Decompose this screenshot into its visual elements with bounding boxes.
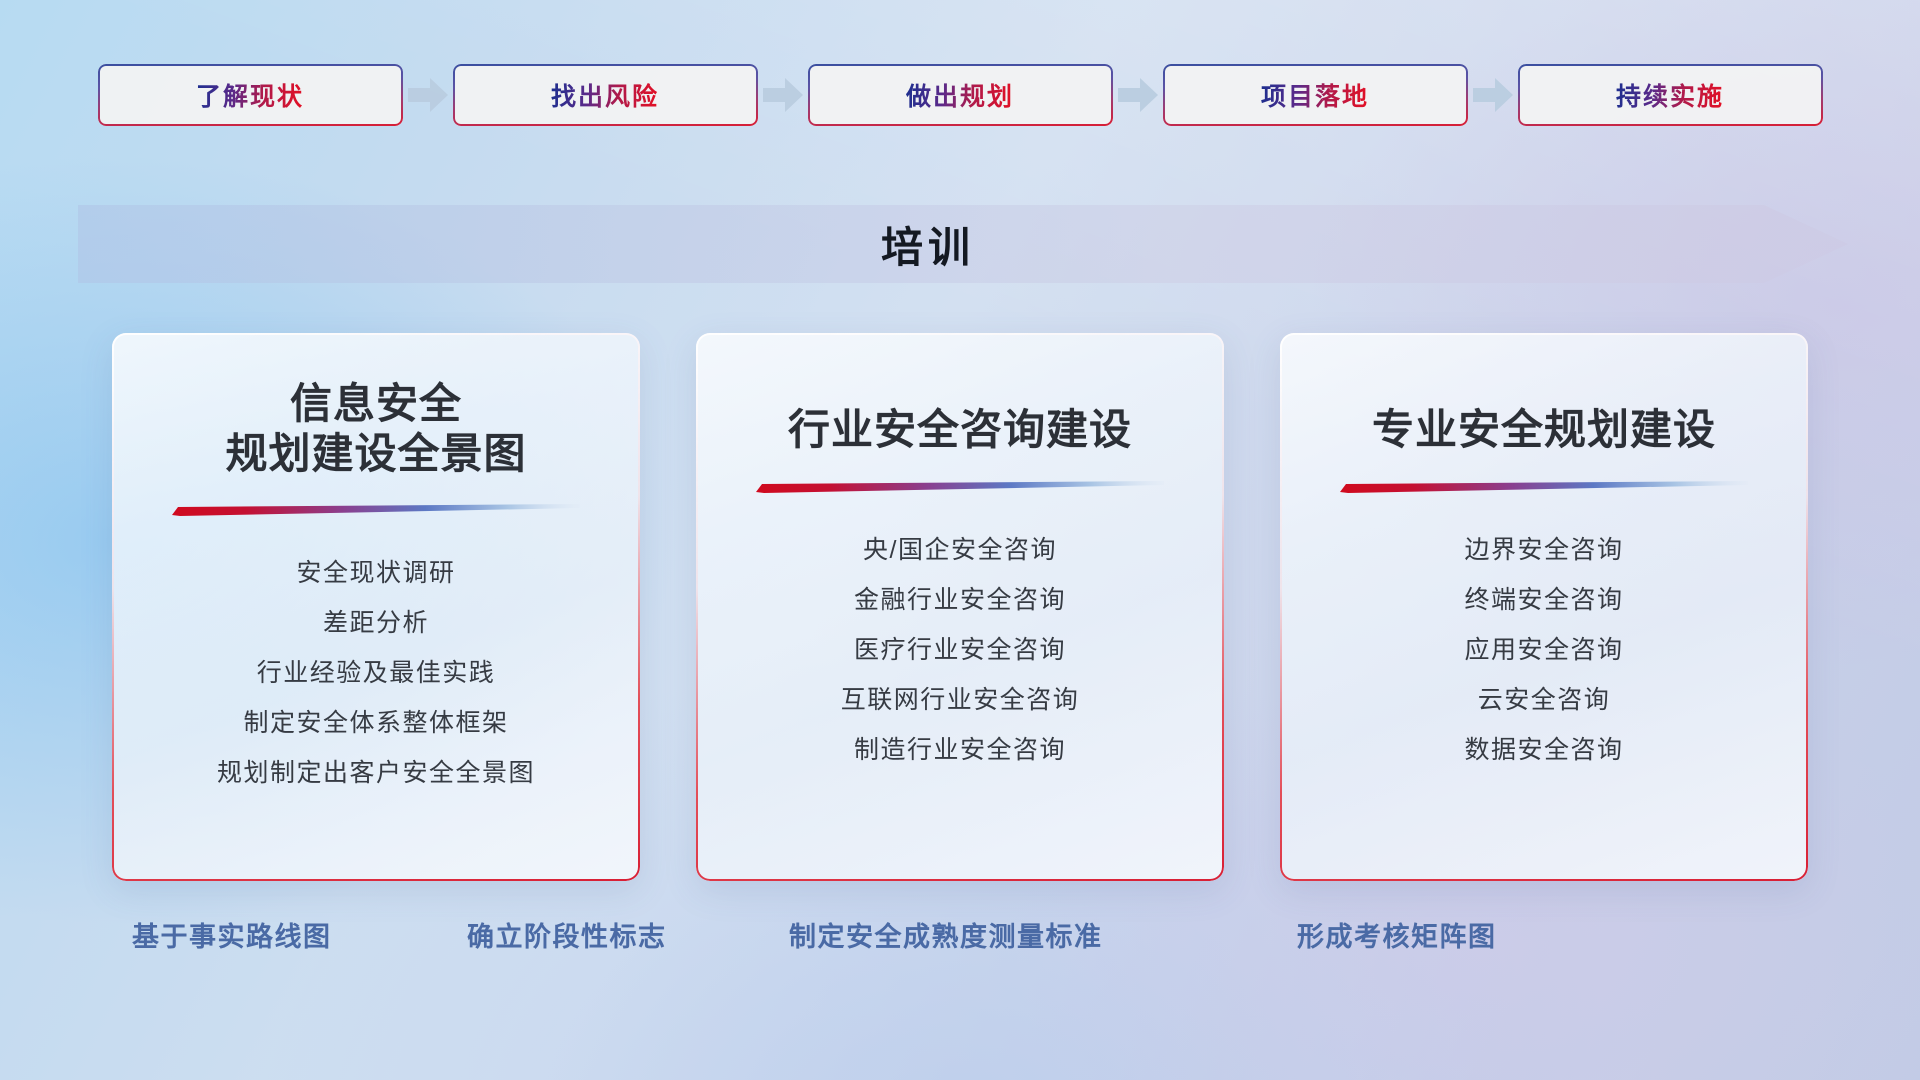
step-box-1[interactable]: 了解现状 (98, 64, 403, 126)
list-item: 差距分析 (323, 602, 429, 645)
step-label: 做出规划 (906, 77, 1014, 113)
footer-caption-3: 制定安全成熟度测量标准 (789, 915, 1103, 954)
service-card-title: 行业安全咨询建设 (788, 333, 1132, 455)
list-item: 央/国企安全咨询 (863, 529, 1057, 572)
service-card-list: 边界安全咨询终端安全咨询应用安全咨询云安全咨询数据安全咨询 (1464, 529, 1623, 772)
list-item: 金融行业安全咨询 (854, 579, 1066, 622)
step-connector-arrow-right-icon (1113, 64, 1163, 126)
list-item: 医疗行业安全咨询 (854, 629, 1066, 672)
step-label: 持续实施 (1616, 77, 1724, 113)
slide-canvas: 了解现状找出风险做出规划项目落地持续实施 培训 信息安全 规划建设全景图安全现状… (0, 0, 1920, 1080)
service-card-title: 信息安全 规划建设全景图 (225, 333, 526, 478)
step-label: 找出风险 (551, 77, 659, 113)
list-item: 边界安全咨询 (1464, 529, 1623, 572)
list-item: 终端安全咨询 (1464, 579, 1623, 622)
service-card-title: 专业安全规划建设 (1372, 333, 1716, 455)
service-card-2[interactable]: 行业安全咨询建设央/国企安全咨询金融行业安全咨询医疗行业安全咨询互联网行业安全咨… (696, 333, 1224, 881)
step-box-4[interactable]: 项目落地 (1163, 64, 1468, 126)
training-band-title: 培训 (78, 205, 1848, 283)
step-connector-arrow-right-icon (1468, 64, 1518, 126)
list-item: 行业经验及最佳实践 (257, 652, 496, 695)
list-item: 规划制定出客户安全全景图 (217, 752, 535, 795)
service-card-list: 央/国企安全咨询金融行业安全咨询医疗行业安全咨询互联网行业安全咨询制造行业安全咨… (841, 529, 1080, 772)
step-connector-arrow-right-icon (758, 64, 808, 126)
list-item: 互联网行业安全咨询 (841, 679, 1080, 722)
service-card-group: 信息安全 规划建设全景图安全现状调研差距分析行业经验及最佳实践制定安全体系整体框… (0, 333, 1920, 888)
step-box-5[interactable]: 持续实施 (1518, 64, 1823, 126)
step-box-3[interactable]: 做出规划 (808, 64, 1113, 126)
step-connector-arrow-right-icon (403, 64, 453, 126)
gradient-divider (756, 481, 1164, 493)
step-label: 项目落地 (1261, 77, 1369, 113)
list-item: 制定安全体系整体框架 (243, 702, 508, 745)
service-card-1[interactable]: 信息安全 规划建设全景图安全现状调研差距分析行业经验及最佳实践制定安全体系整体框… (112, 333, 640, 881)
step-box-2[interactable]: 找出风险 (453, 64, 758, 126)
footer-caption-group: 基于事实路线图确立阶段性标志制定安全成熟度测量标准形成考核矩阵图 (0, 915, 1920, 961)
footer-caption-2: 确立阶段性标志 (467, 915, 667, 954)
training-band: 培训 (78, 205, 1848, 283)
service-card-list: 安全现状调研差距分析行业经验及最佳实践制定安全体系整体框架规划制定出客户安全全景… (217, 552, 535, 795)
footer-caption-1: 基于事实路线图 (132, 915, 332, 954)
step-label: 了解现状 (196, 77, 304, 113)
gradient-divider (172, 504, 580, 516)
service-card-3[interactable]: 专业安全规划建设边界安全咨询终端安全咨询应用安全咨询云安全咨询数据安全咨询 (1280, 333, 1808, 881)
gradient-divider (1340, 481, 1748, 493)
list-item: 数据安全咨询 (1464, 729, 1623, 772)
list-item: 制造行业安全咨询 (854, 729, 1066, 772)
list-item: 安全现状调研 (296, 552, 455, 595)
footer-caption-4: 形成考核矩阵图 (1297, 915, 1497, 954)
list-item: 云安全咨询 (1478, 679, 1611, 722)
list-item: 应用安全咨询 (1464, 629, 1623, 672)
process-step-flow: 了解现状找出风险做出规划项目落地持续实施 (0, 62, 1920, 128)
